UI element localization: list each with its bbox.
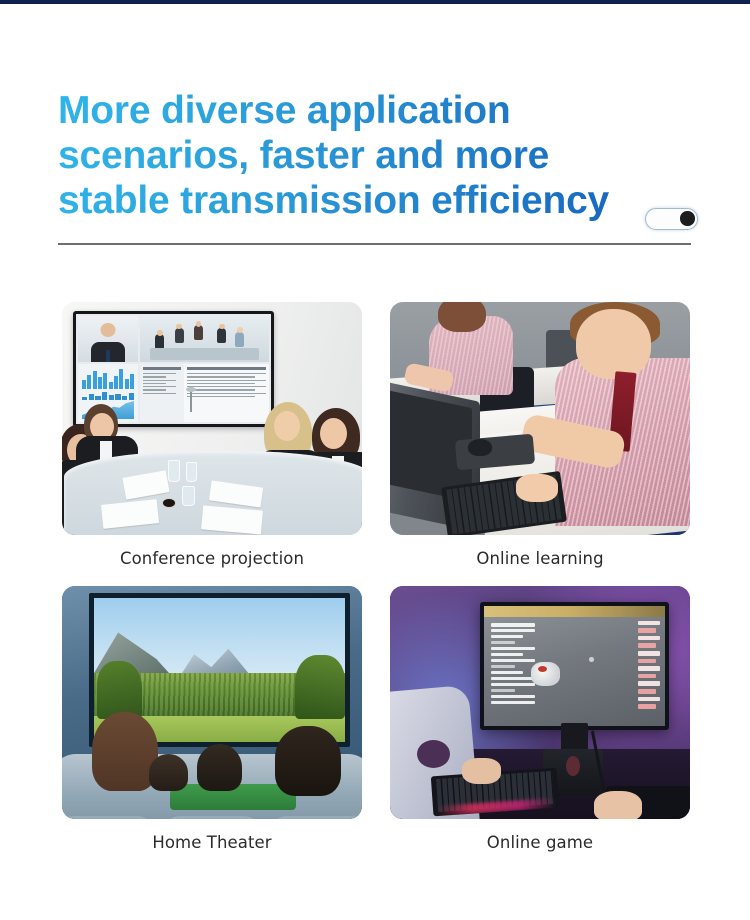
header-divider [58, 243, 691, 245]
game-ui-right-panel [638, 621, 660, 715]
video-tile-remote-room [140, 316, 269, 362]
toggle-knob-icon [680, 211, 695, 226]
scenario-grid: Conference projection [62, 302, 690, 852]
computer-mouse [468, 439, 492, 455]
gamer-left-hand [462, 758, 501, 784]
video-tile-self [78, 316, 138, 362]
scenario-caption-online-game: Online game [390, 833, 690, 852]
gamer-right-hand [594, 791, 642, 819]
viewer-child-two-silhouette [197, 744, 242, 791]
scenario-card-online-game[interactable]: Online game [390, 586, 690, 852]
online-learning-photo [390, 302, 690, 535]
page-title: More diverse application scenarios, fast… [58, 88, 609, 223]
scenario-showcase-page: More diverse application scenarios, fast… [0, 0, 750, 920]
coffee-cup [162, 498, 176, 508]
hoodie-elbow-patch [417, 740, 450, 768]
online-game-photo [390, 586, 690, 819]
student-boy-head [576, 309, 651, 379]
water-glass [186, 462, 197, 482]
conference-projection-photo [62, 302, 362, 535]
student-girl-hair [438, 302, 486, 332]
scenario-card-conference-projection[interactable]: Conference projection [62, 302, 362, 568]
water-glass [168, 460, 180, 482]
scenario-card-online-learning[interactable]: Online learning [390, 302, 690, 568]
table-microphone-icon [190, 390, 192, 412]
viewer-father-silhouette [275, 726, 341, 796]
scenario-caption-home-theater: Home Theater [62, 833, 362, 852]
water-glass [182, 486, 195, 506]
top-accent-strip [0, 0, 750, 4]
headline-block: More diverse application scenarios, fast… [58, 88, 698, 223]
game-ui-left-panel [491, 623, 534, 702]
gaming-monitor [480, 602, 669, 730]
scenario-card-home-theater[interactable]: Home Theater [62, 586, 362, 852]
document-paper [201, 505, 263, 534]
student-boy-hand [516, 474, 558, 502]
slide-text-panel [140, 364, 269, 422]
viewer-child-one-silhouette [149, 754, 188, 791]
scenario-caption-conference-projection: Conference projection [62, 549, 362, 568]
scenario-caption-online-learning: Online learning [390, 549, 690, 568]
game-screen-content [484, 606, 665, 726]
home-theater-photo [62, 586, 362, 819]
transmission-toggle-switch[interactable] [645, 208, 698, 230]
